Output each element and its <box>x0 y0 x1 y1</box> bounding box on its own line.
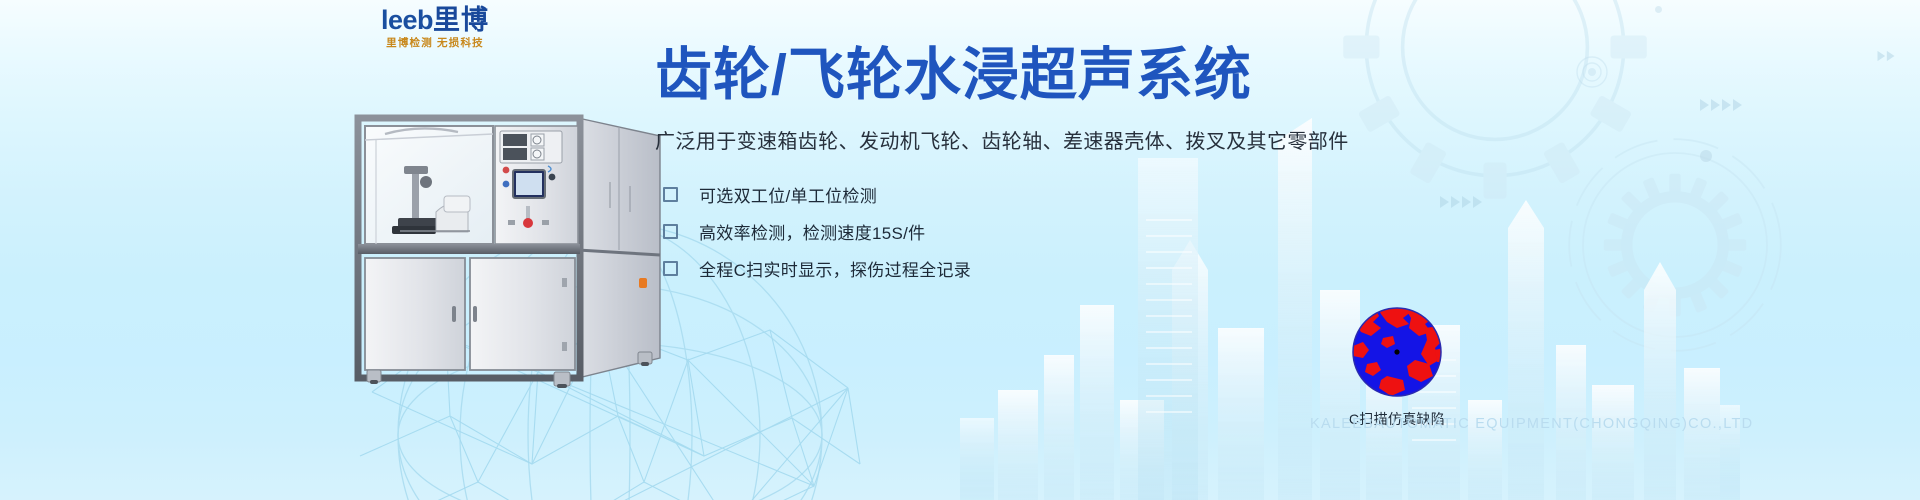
feature-label: 高效率检测，检测速度15S/件 <box>699 219 925 244</box>
checkbox-icon <box>663 224 678 239</box>
checkbox-icon <box>663 261 678 276</box>
feature-label: 全程C扫实时显示，探伤过程全记录 <box>699 256 971 281</box>
company-name: KALEEBAUTOMATIC EQUIPMENT(CHONGQING)CO.,… <box>1310 416 1753 432</box>
promo-banner: leeb里博 里博检测 无损科技 <box>0 0 1920 500</box>
page-title: 齿轮/飞轮水浸超声系统 <box>655 44 1835 108</box>
chevron-arrows-icon <box>1878 51 1895 61</box>
logo-tagline: 里博检测 无损科技 <box>345 35 525 50</box>
cscan-defect-image <box>1351 306 1443 398</box>
feature-label: 可选双工位/单工位检测 <box>699 182 877 207</box>
page-subtitle: 广泛用于变速箱齿轮、发动机飞轮、齿轮轴、差速器壳体、拨叉及其它零部件 <box>655 125 1835 154</box>
hero-content: 齿轮/飞轮水浸超声系统 广泛用于变速箱齿轮、发动机飞轮、齿轮轴、差速器壳体、拨叉… <box>655 44 1835 287</box>
logo-chinese: 里博 <box>433 5 489 35</box>
brand-logo[interactable]: leeb里博 里博检测 无损科技 <box>345 6 525 50</box>
logo-latin: leeb <box>381 5 433 35</box>
decorative-dot-small <box>1655 6 1662 13</box>
cscan-sample: C扫描仿真缺陷 <box>1327 306 1467 429</box>
logo-wordmark: leeb里博 <box>345 6 525 34</box>
list-item: 高效率检测，检测速度15S/件 <box>655 213 1835 250</box>
list-item: 全程C扫实时显示，探伤过程全记录 <box>655 250 1835 287</box>
product-photo-ultrasonic-machine <box>340 100 670 390</box>
list-item: 可选双工位/单工位检测 <box>655 176 1835 213</box>
checkbox-icon <box>663 187 678 202</box>
feature-list: 可选双工位/单工位检测 高效率检测，检测速度15S/件 全程C扫实时显示，探伤过… <box>655 176 1835 287</box>
